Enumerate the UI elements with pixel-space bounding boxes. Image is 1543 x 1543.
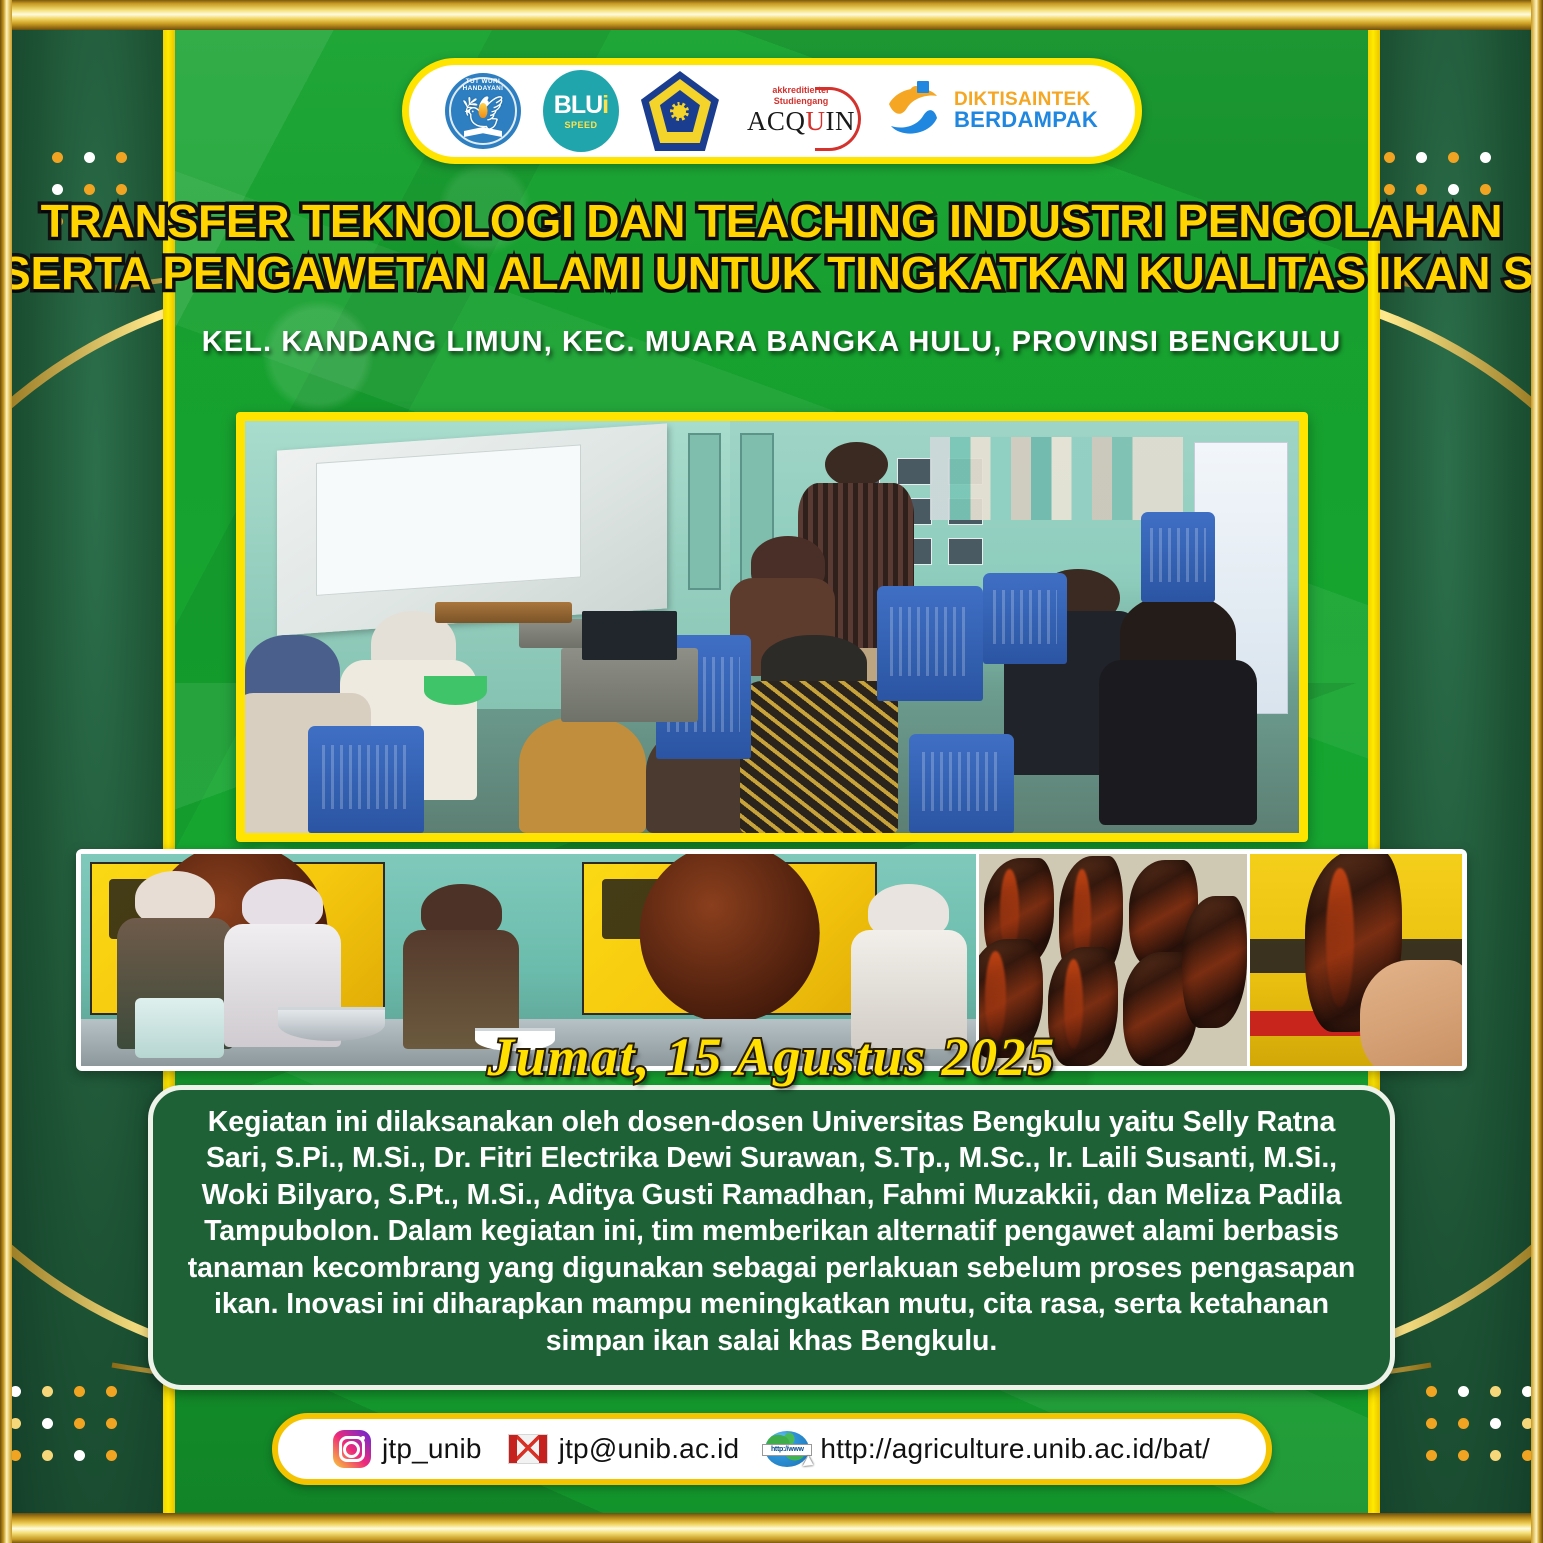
blu-logo-accent: i [602,91,608,119]
title-line-1: TRANSFER TEKNOLOGI DAN TEACHING INDUSTRI… [0,196,1543,248]
diktisaintek-line2: BERDAMPAK [954,109,1098,131]
dot-grid-bottom-right [1426,1386,1533,1461]
poster-root: TUT WURI HANDAYANI 🕊 BLUi SPEED akkredit… [0,0,1543,1543]
frame-top [0,0,1543,30]
title-block: TRANSFER TEKNOLOGI DAN TEACHING INDUSTRI… [0,196,1543,359]
blu-logo-line2: SPEED [564,120,597,130]
blu-logo-line1: BLU [554,91,602,119]
acquin-word-a: ACQ [747,106,806,136]
title-subtitle: KEL. KANDANG LIMUN, KEC. MUARA BANGKA HU… [0,326,1543,359]
kemdikbud-logo: TUT WURI HANDAYANI 🕊 [445,73,521,149]
email-contact[interactable]: jtp@unib.ac.id [508,1433,740,1465]
logo-bar: TUT WURI HANDAYANI 🕊 BLUi SPEED akkredit… [402,58,1142,164]
frame-right [1531,0,1543,1543]
description-text: Kegiatan ini dilaksanakan oleh dosen-dos… [181,1104,1362,1359]
date-banner: Jumat, 15 Agustus 2025 [0,1026,1543,1088]
diktisaintek-logo: DIKTISAINTEK BERDAMPAK [883,78,1098,144]
title-line-2: SERTA PENGAWETAN ALAMI UNTUK TINGKATKAN … [0,248,1543,300]
instagram-contact[interactable]: jtp_unib [333,1430,482,1468]
kemdikbud-logo-caption: TUT WURI HANDAYANI [445,78,521,92]
gmail-icon[interactable] [508,1434,548,1464]
website-url[interactable]: http://agriculture.unib.ac.id/bat/ [820,1433,1210,1465]
main-photo [236,412,1308,842]
instagram-icon[interactable] [333,1430,371,1468]
diktisaintek-mark-icon [883,78,945,144]
frame-bottom [0,1513,1543,1543]
blu-logo: BLUi SPEED [543,70,619,152]
unib-logo [641,71,719,151]
email-address[interactable]: jtp@unib.ac.id [559,1433,740,1465]
instagram-handle[interactable]: jtp_unib [382,1433,482,1465]
acquin-logo: akkreditierter Studiengang ACQUIN [741,85,861,137]
frame-left [0,0,12,1543]
footer-contact-bar: jtp_unib jtp@unib.ac.id http://www http:… [272,1413,1272,1485]
description-box: Kegiatan ini dilaksanakan oleh dosen-dos… [148,1085,1395,1390]
globe-icon[interactable]: http://www [765,1431,809,1467]
globe-icon-tape-text: http://www [762,1444,812,1456]
dot-grid-bottom-left [10,1386,117,1461]
website-contact[interactable]: http://www http://agriculture.unib.ac.id… [765,1431,1210,1467]
